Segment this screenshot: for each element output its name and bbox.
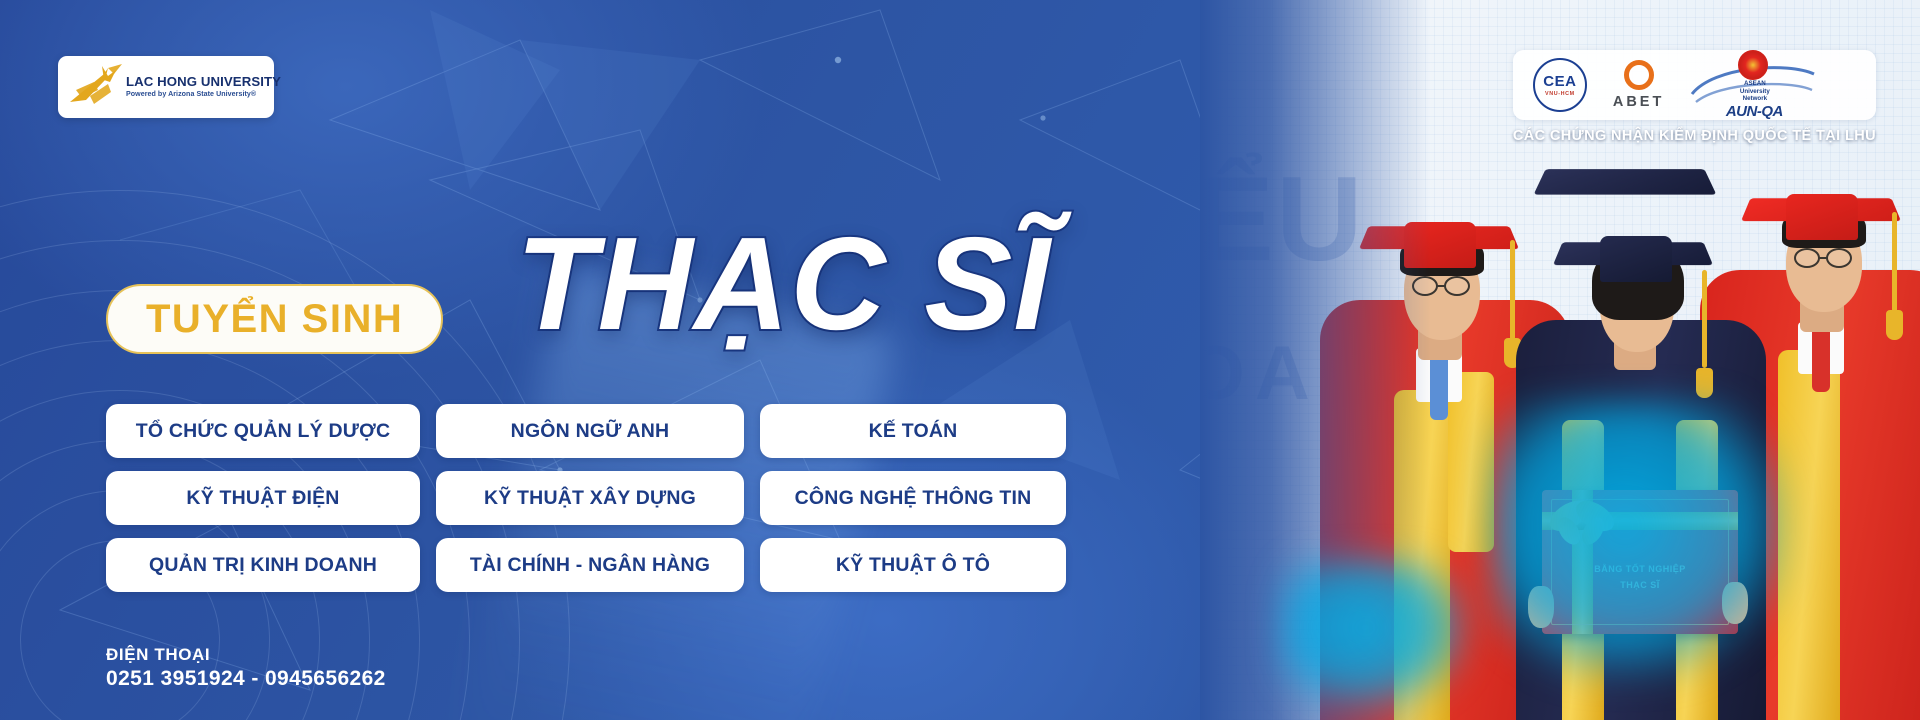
graduate-center: BẰNG TỐT NGHIỆP THẠC SĨ (1516, 120, 1766, 720)
program-button-quan-tri-kinh-doanh[interactable]: QUẢN TRỊ KINH DOANH (106, 538, 420, 592)
logo-subtitle: Powered by Arizona State University® (126, 91, 281, 99)
tuyen-sinh-badge: TUYỂN SINH (106, 284, 443, 354)
program-label: KẾ TOÁN (869, 420, 958, 443)
university-logo[interactable]: LAC HONG UNIVERSITY Powered by Arizona S… (58, 56, 274, 118)
badge-abet[interactable]: ABET (1613, 60, 1664, 110)
logo-name: LAC HONG UNIVERSITY (126, 75, 281, 89)
program-row-3: QUẢN TRỊ KINH DOANH TÀI CHÍNH - NGÂN HÀN… (106, 538, 1066, 592)
program-list: TỔ CHỨC QUẢN LÝ DƯỢC NGÔN NGỮ ANH KẾ TOÁ… (106, 404, 1066, 592)
program-button-to-chuc-quan-ly-duoc[interactable]: TỔ CHỨC QUẢN LÝ DƯỢC (106, 404, 420, 458)
program-button-ke-toan[interactable]: KẾ TOÁN (760, 404, 1066, 458)
badge-cea[interactable]: CEA VNU-HCM (1533, 58, 1587, 112)
program-label: NGÔN NGỮ ANH (511, 420, 670, 443)
accreditation-caption: CÁC CHỨNG NHẬN KIỂM ĐỊNH QUỐC TẾ TẠI LHU (1513, 128, 1876, 144)
program-button-ky-thuat-o-to[interactable]: KỸ THUẬT Ô TÔ (760, 538, 1066, 592)
panel-left-fade (1200, 0, 1430, 720)
contact-label: ĐIỆN THOẠI (106, 645, 386, 666)
program-button-ngon-ngu-anh[interactable]: NGÔN NGỮ ANH (436, 404, 744, 458)
tuyen-sinh-label: TUYỂN SINH (146, 297, 403, 341)
accreditation-block: CEA VNU-HCM ABET ASEANUniversityNetwork … (1513, 50, 1876, 144)
program-label: KỸ THUẬT ĐIỆN (186, 487, 339, 510)
cea-sublabel: VNU-HCM (1545, 91, 1575, 97)
program-label: KỸ THUẬT XÂY DỰNG (484, 487, 696, 510)
program-button-cong-nghe-thong-tin[interactable]: CÔNG NGHỆ THÔNG TIN (760, 471, 1066, 525)
program-label: CÔNG NGHỆ THÔNG TIN (795, 487, 1032, 510)
accreditation-card: CEA VNU-HCM ABET ASEANUniversityNetwork … (1513, 50, 1876, 120)
cea-label: CEA (1543, 74, 1576, 89)
program-row-1: TỔ CHỨC QUẢN LÝ DƯỢC NGÔN NGỮ ANH KẾ TOÁ… (106, 404, 1066, 458)
aun-words: ASEANUniversityNetwork (1740, 80, 1770, 103)
diploma-line-1: BẰNG TỐT NGHIỆP (1542, 564, 1738, 574)
abet-label: ABET (1613, 94, 1664, 110)
diploma-bow (1548, 496, 1620, 552)
program-button-ky-thuat-xay-dung[interactable]: KỸ THUẬT XÂY DỰNG (436, 471, 744, 525)
contact-phone-numbers[interactable]: 0251 3951924 - 0945656262 (106, 666, 386, 692)
badge-aun-qa[interactable]: ASEANUniversityNetwork AUN-QA (1690, 60, 1816, 110)
cea-ring-icon: CEA VNU-HCM (1533, 58, 1587, 112)
contact-block: ĐIỆN THOẠI 0251 3951924 - 0945656262 (106, 645, 386, 691)
program-button-tai-chinh-ngan-hang[interactable]: TÀI CHÍNH - NGÂN HÀNG (436, 538, 744, 592)
program-row-2: KỸ THUẬT ĐIỆN KỸ THUẬT XÂY DỰNG CÔNG NGH… (106, 471, 1066, 525)
program-button-ky-thuat-dien[interactable]: KỸ THUẬT ĐIỆN (106, 471, 420, 525)
program-label: TỔ CHỨC QUẢN LÝ DƯỢC (136, 420, 390, 443)
program-label: TÀI CHÍNH - NGÂN HÀNG (470, 554, 710, 577)
program-label: QUẢN TRỊ KINH DOANH (149, 554, 377, 577)
program-label: KỸ THUẬT Ô TÔ (836, 554, 990, 577)
page-title: THẠC SĨ (516, 218, 1051, 350)
abet-circle-icon (1624, 60, 1654, 90)
recruitment-banner: HIỂU NH DOANH TẦN NGH y to (0, 0, 1920, 720)
gold-bird-star-icon (64, 62, 126, 112)
diploma-line-2: THẠC SĨ (1542, 580, 1738, 590)
aun-qa-label: AUN-QA (1726, 103, 1783, 120)
diploma-folder: BẰNG TỐT NGHIỆP THẠC SĨ (1542, 490, 1738, 634)
